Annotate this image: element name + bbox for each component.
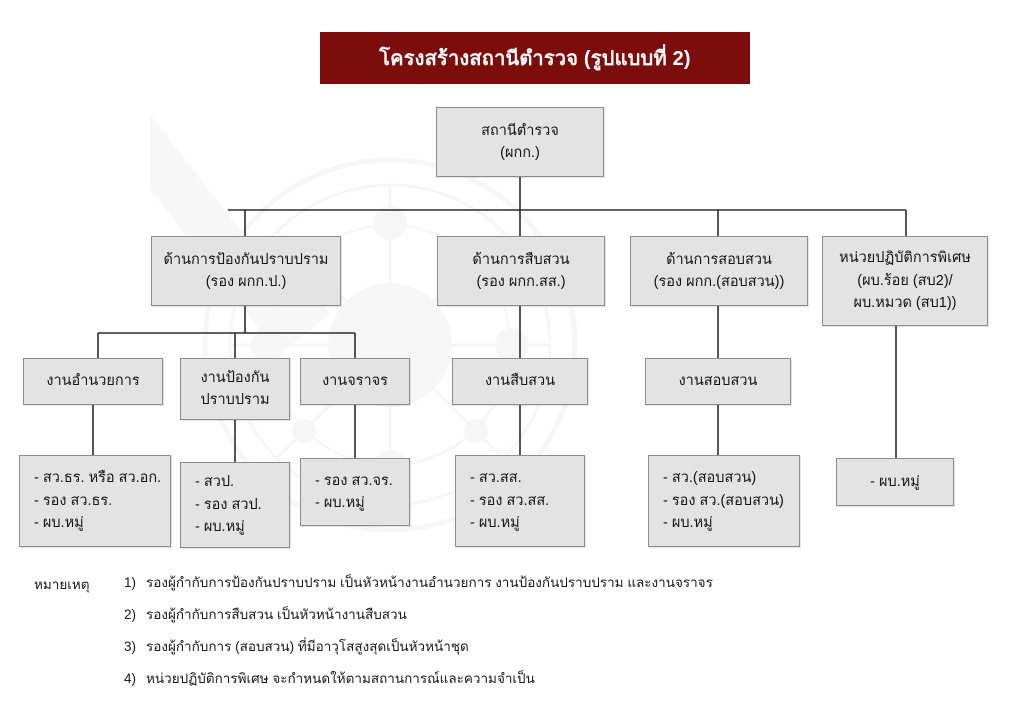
note-text: รองผู้กำกับการ (สอบสวน) ที่มีอาวุโสสูงสุ… (146, 636, 984, 658)
node-traffic-work[interactable]: งานจราจร (300, 358, 410, 405)
chart-canvas: โครงสร้างสถานีตำรวจ (รูปแบบที่ 2) สถานีต… (0, 0, 1024, 703)
note-item: 1) รองผู้กำกับการป้องกันปราบปราม เป็นหัว… (124, 572, 984, 594)
node-traffic-staff-line-1: - ผบ.หมู่ (315, 492, 365, 514)
node-special-unit-line-1: (ผบ.ร้อย (สบ2)/ (857, 270, 952, 292)
node-special-staff-line-0: - ผบ.หมู่ (870, 471, 920, 493)
node-prevention-work-line-0: งานป้องกัน (201, 367, 270, 389)
note-number: 2) (124, 604, 146, 626)
node-investigation-staff-line-2: - ผบ.หมู่ (663, 512, 713, 534)
node-investigation-line-0: ด้านการสอบสวน (666, 249, 772, 271)
node-admin-work[interactable]: งานอำนวยการ (23, 358, 163, 405)
node-station-line-0: สถานีตำรวจ (481, 120, 559, 142)
node-traffic-work-line-0: งานจราจร (322, 370, 388, 392)
note-item: 3) รองผู้กำกับการ (สอบสวน) ที่มีอาวุโสสู… (124, 636, 984, 658)
notes-section: หมายเหตุ 1) รองผู้กำกับการป้องกันปราบปรา… (34, 572, 984, 699)
node-intelligence-line-0: ด้านการสืบสวน (472, 249, 569, 271)
node-intelligence-staff[interactable]: - สว.สส. - รอง สว.สส. - ผบ.หมู่ (455, 455, 585, 547)
node-intelligence-staff-line-0: - สว.สส. (470, 467, 522, 489)
node-admin-staff-line-0: - สว.ธร. หรือ สว.อก. (34, 467, 161, 489)
node-intelligence-staff-line-2: - ผบ.หมู่ (470, 512, 520, 534)
node-prevention-line-0: ด้านการป้องกันปราบปราม (164, 249, 329, 271)
node-investigation-staff-line-0: - สว.(สอบสวน) (663, 467, 756, 489)
node-intelligence-work-line-0: งานสืบสวน (485, 370, 555, 392)
node-investigation-staff-line-1: - รอง สว.(สอบสวน) (663, 490, 784, 512)
node-special-unit-line-0: หน่วยปฏิบัติการพิเศษ (839, 247, 971, 269)
note-number: 3) (124, 636, 146, 658)
node-prevention-staff-line-0: - สวป. (195, 471, 234, 493)
node-traffic-staff[interactable]: - รอง สว.จร. - ผบ.หมู่ (300, 458, 410, 526)
note-item: 4) หน่วยปฏิบัติการพิเศษ จะกำหนดให้ตามสถา… (124, 668, 984, 690)
note-number: 4) (124, 668, 146, 690)
node-special-unit-line-2: ผบ.หมวด (สบ1)) (853, 292, 956, 314)
node-prevention-staff-line-1: - รอง สวป. (195, 494, 262, 516)
node-prevention-staff[interactable]: - สวป. - รอง สวป. - ผบ.หมู่ (180, 462, 290, 548)
node-admin-staff-line-1: - รอง สว.ธร. (34, 490, 112, 512)
node-admin-staff[interactable]: - สว.ธร. หรือ สว.อก. - รอง สว.ธร. - ผบ.ห… (19, 455, 171, 547)
node-investigation-staff[interactable]: - สว.(สอบสวน) - รอง สว.(สอบสวน) - ผบ.หมู… (648, 455, 800, 547)
node-station[interactable]: สถานีตำรวจ (ผกก.) (436, 107, 604, 177)
notes-heading: หมายเหตุ (34, 574, 120, 596)
node-admin-staff-line-2: - ผบ.หมู่ (34, 512, 84, 534)
node-admin-work-line-0: งานอำนวยการ (46, 370, 139, 392)
note-number: 1) (124, 572, 146, 594)
notes-list: 1) รองผู้กำกับการป้องกันปราบปราม เป็นหัว… (124, 572, 984, 689)
node-investigation-work[interactable]: งานสอบสวน (645, 358, 791, 405)
node-intelligence-line-1: (รอง ผกก.สส.) (476, 271, 565, 293)
node-investigation-work-line-0: งานสอบสวน (679, 370, 758, 392)
node-investigation[interactable]: ด้านการสอบสวน (รอง ผกก.(สอบสวน)) (630, 236, 808, 306)
node-intelligence-staff-line-1: - รอง สว.สส. (470, 490, 549, 512)
node-special-unit[interactable]: หน่วยปฏิบัติการพิเศษ (ผบ.ร้อย (สบ2)/ ผบ.… (822, 236, 988, 326)
note-text: รองผู้กำกับการป้องกันปราบปราม เป็นหัวหน้… (146, 572, 984, 594)
node-investigation-line-1: (รอง ผกก.(สอบสวน)) (654, 271, 785, 293)
node-prevention-work-line-1: ปราบปราม (200, 389, 269, 411)
page-title-text: โครงสร้างสถานีตำรวจ (รูปแบบที่ 2) (379, 42, 691, 74)
note-item: 2) รองผู้กำกับการสืบสวน เป็นหัวหน้างานสื… (124, 604, 984, 626)
node-prevention-work[interactable]: งานป้องกัน ปราบปราม (180, 358, 290, 420)
node-station-line-1: (ผกก.) (500, 142, 540, 164)
node-prevention[interactable]: ด้านการป้องกันปราบปราม (รอง ผกก.ป.) (151, 236, 341, 306)
node-prevention-staff-line-2: - ผบ.หมู่ (195, 516, 245, 538)
note-text: รองผู้กำกับการสืบสวน เป็นหัวหน้างานสืบสว… (146, 604, 984, 626)
page-title: โครงสร้างสถานีตำรวจ (รูปแบบที่ 2) (320, 32, 750, 84)
node-intelligence-work[interactable]: งานสืบสวน (452, 358, 588, 405)
node-traffic-staff-line-0: - รอง สว.จร. (315, 470, 393, 492)
node-special-staff[interactable]: - ผบ.หมู่ (836, 458, 954, 506)
node-prevention-line-1: (รอง ผกก.ป.) (206, 271, 287, 293)
node-intelligence[interactable]: ด้านการสืบสวน (รอง ผกก.สส.) (437, 236, 605, 306)
note-text: หน่วยปฏิบัติการพิเศษ จะกำหนดให้ตามสถานกา… (146, 668, 984, 690)
